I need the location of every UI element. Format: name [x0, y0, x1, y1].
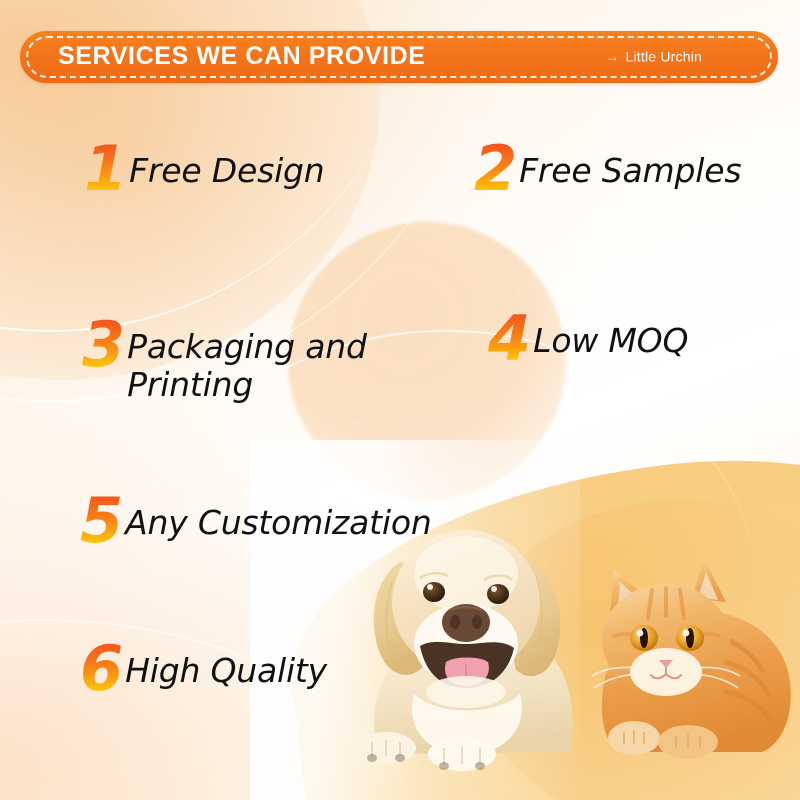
page-title: SERVICES WE CAN PROVIDE: [58, 42, 426, 71]
dog-figure: [356, 530, 573, 771]
cat-figure: [592, 558, 791, 759]
service-item-6: 6 High Quality: [80, 652, 327, 707]
dog-eye-left: [423, 582, 445, 602]
service-label-4: Low MOQ: [533, 322, 688, 360]
service-number-4: 4: [488, 312, 532, 367]
service-number-5: 5: [80, 494, 124, 549]
service-item-3: 3 Packaging and Printing: [82, 328, 367, 405]
service-item-2: 2 Free Samples: [474, 152, 741, 207]
brand-label: → Little Urchin: [605, 49, 702, 65]
poster-canvas: SERVICES WE CAN PROVIDE → Little Urchin …: [0, 0, 800, 800]
service-item-4: 4 Low MOQ: [488, 322, 688, 377]
brand-name: Little Urchin: [625, 49, 702, 65]
service-number-3: 3: [82, 318, 126, 373]
dog-eye-right: [487, 584, 509, 604]
service-label-1: Free Design: [129, 152, 324, 190]
service-label-3: Packaging and Printing: [127, 328, 367, 405]
service-number-6: 6: [80, 642, 124, 697]
service-item-1: 1 Free Design: [84, 152, 325, 207]
service-number-1: 1: [84, 142, 128, 197]
header-banner: SERVICES WE CAN PROVIDE → Little Urchin: [20, 31, 778, 83]
service-label-6: High Quality: [125, 652, 327, 690]
service-number-2: 2: [474, 142, 518, 197]
pets-illustration: [352, 486, 800, 776]
service-label-2: Free Samples: [519, 152, 741, 190]
arrow-right-icon: →: [605, 50, 619, 64]
pets-photo: [352, 486, 800, 776]
